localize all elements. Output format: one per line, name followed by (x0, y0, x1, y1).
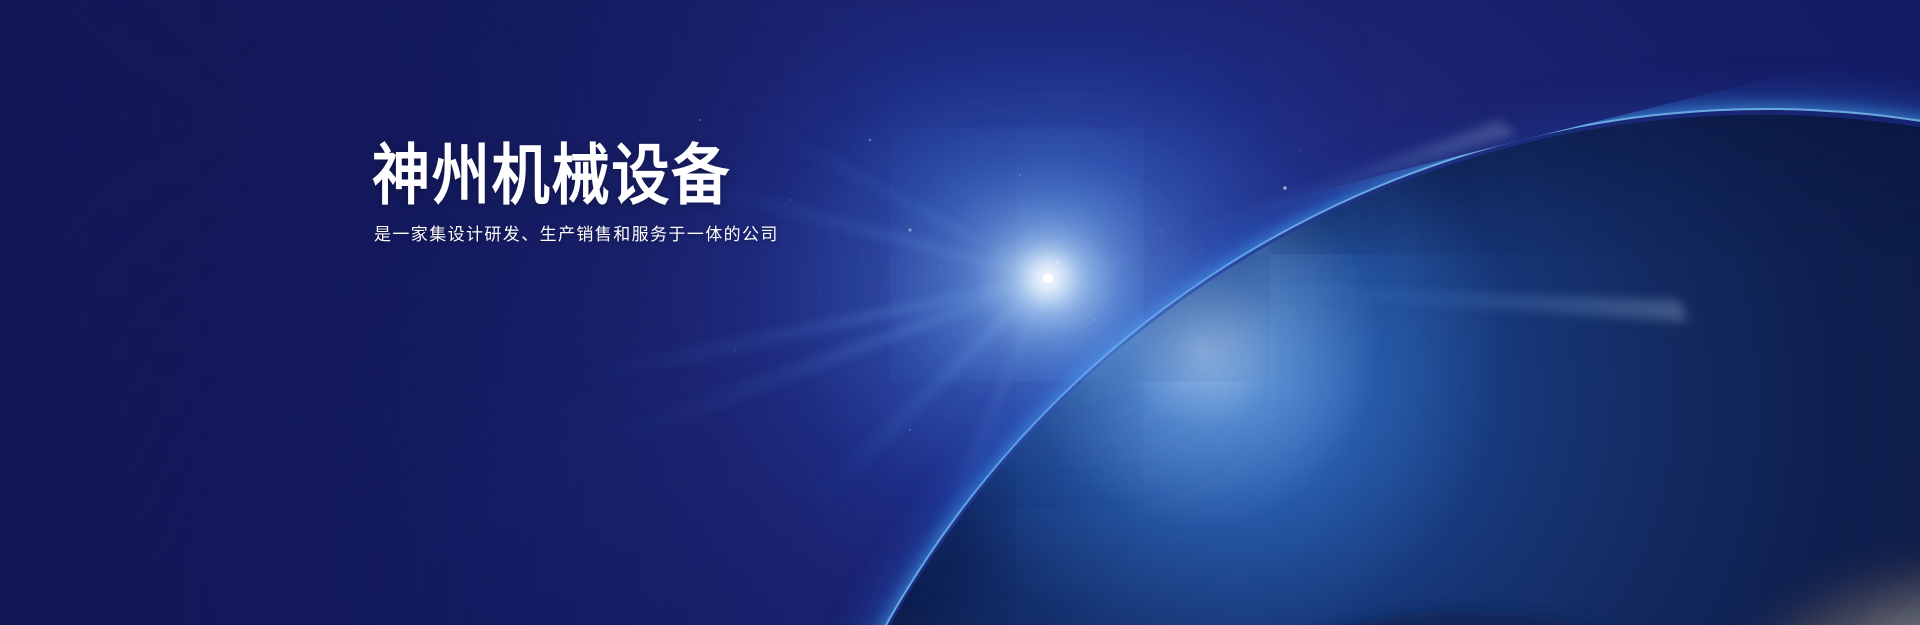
page-subtitle: 是一家集设计研发、生产销售和服务于一体的公司 (374, 224, 780, 246)
hero-banner: 神州机械设备 是一家集设计研发、生产销售和服务于一体的公司 (0, 0, 1920, 625)
background-vignette (0, 0, 1920, 625)
banner-copy: 神州机械设备 是一家集设计研发、生产销售和服务于一体的公司 (372, 140, 780, 246)
page-title: 神州机械设备 (372, 140, 731, 210)
